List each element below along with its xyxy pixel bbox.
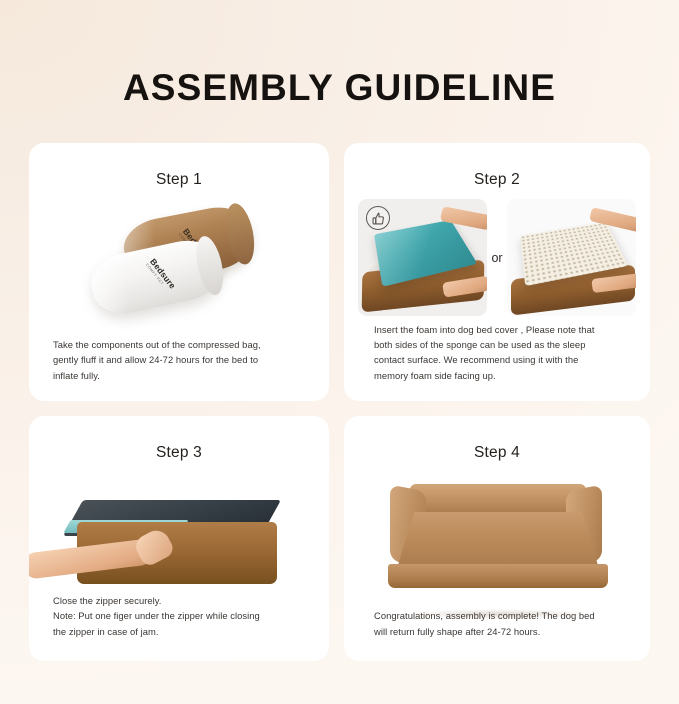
step-1-illustration: Bedsure COMFY PET Bedsure COMFY PET [29, 201, 329, 321]
bed-front-edge [388, 564, 608, 588]
white-compressed-roll-icon: Bedsure COMFY PET [86, 234, 226, 320]
step-card-3: Step 3 Close the zipper securely. Note: … [29, 416, 329, 661]
step-card-4: Step 4 Congratulations, assembly is comp… [344, 416, 650, 661]
step-2-heading: Step 2 [344, 171, 650, 189]
thumbs-up-icon [366, 206, 390, 230]
step-1-caption: Take the components out of the compresse… [53, 337, 309, 383]
step-4-caption: Congratulations, assembly is complete! T… [374, 608, 636, 638]
finished-dog-bed-image [344, 476, 650, 621]
step-1-heading: Step 1 [29, 171, 329, 189]
step-2-separator-label: or [487, 251, 506, 265]
step-2-option-left-image [358, 199, 487, 316]
step-3-caption: Close the zipper securely. Note: Put one… [53, 593, 309, 639]
steps-grid: Step 1 Bedsure COMFY PET Bedsure COMFY P… [29, 143, 650, 661]
step-card-1: Step 1 Bedsure COMFY PET Bedsure COMFY P… [29, 143, 329, 401]
step-2-option-right-image [507, 199, 636, 316]
assembly-guideline-page: ASSEMBLY GUIDELINE Step 1 Bedsure COMFY … [0, 25, 679, 704]
step-2-illustration: or [358, 199, 636, 317]
step-card-2: Step 2 or [344, 143, 650, 401]
step-3-heading: Step 3 [29, 444, 329, 462]
page-title: ASSEMBLY GUIDELINE [0, 25, 679, 106]
step-4-illustration [344, 476, 650, 621]
step-2-caption: Insert the foam into dog bed cover , Ple… [374, 322, 636, 383]
brand-label-white: Bedsure COMFY PET [145, 256, 178, 293]
step-4-heading: Step 4 [344, 444, 650, 462]
bed-backrest [410, 484, 586, 514]
bed-seat-cushion [396, 512, 600, 572]
compressed-bags-image: Bedsure COMFY PET Bedsure COMFY PET [29, 201, 329, 321]
